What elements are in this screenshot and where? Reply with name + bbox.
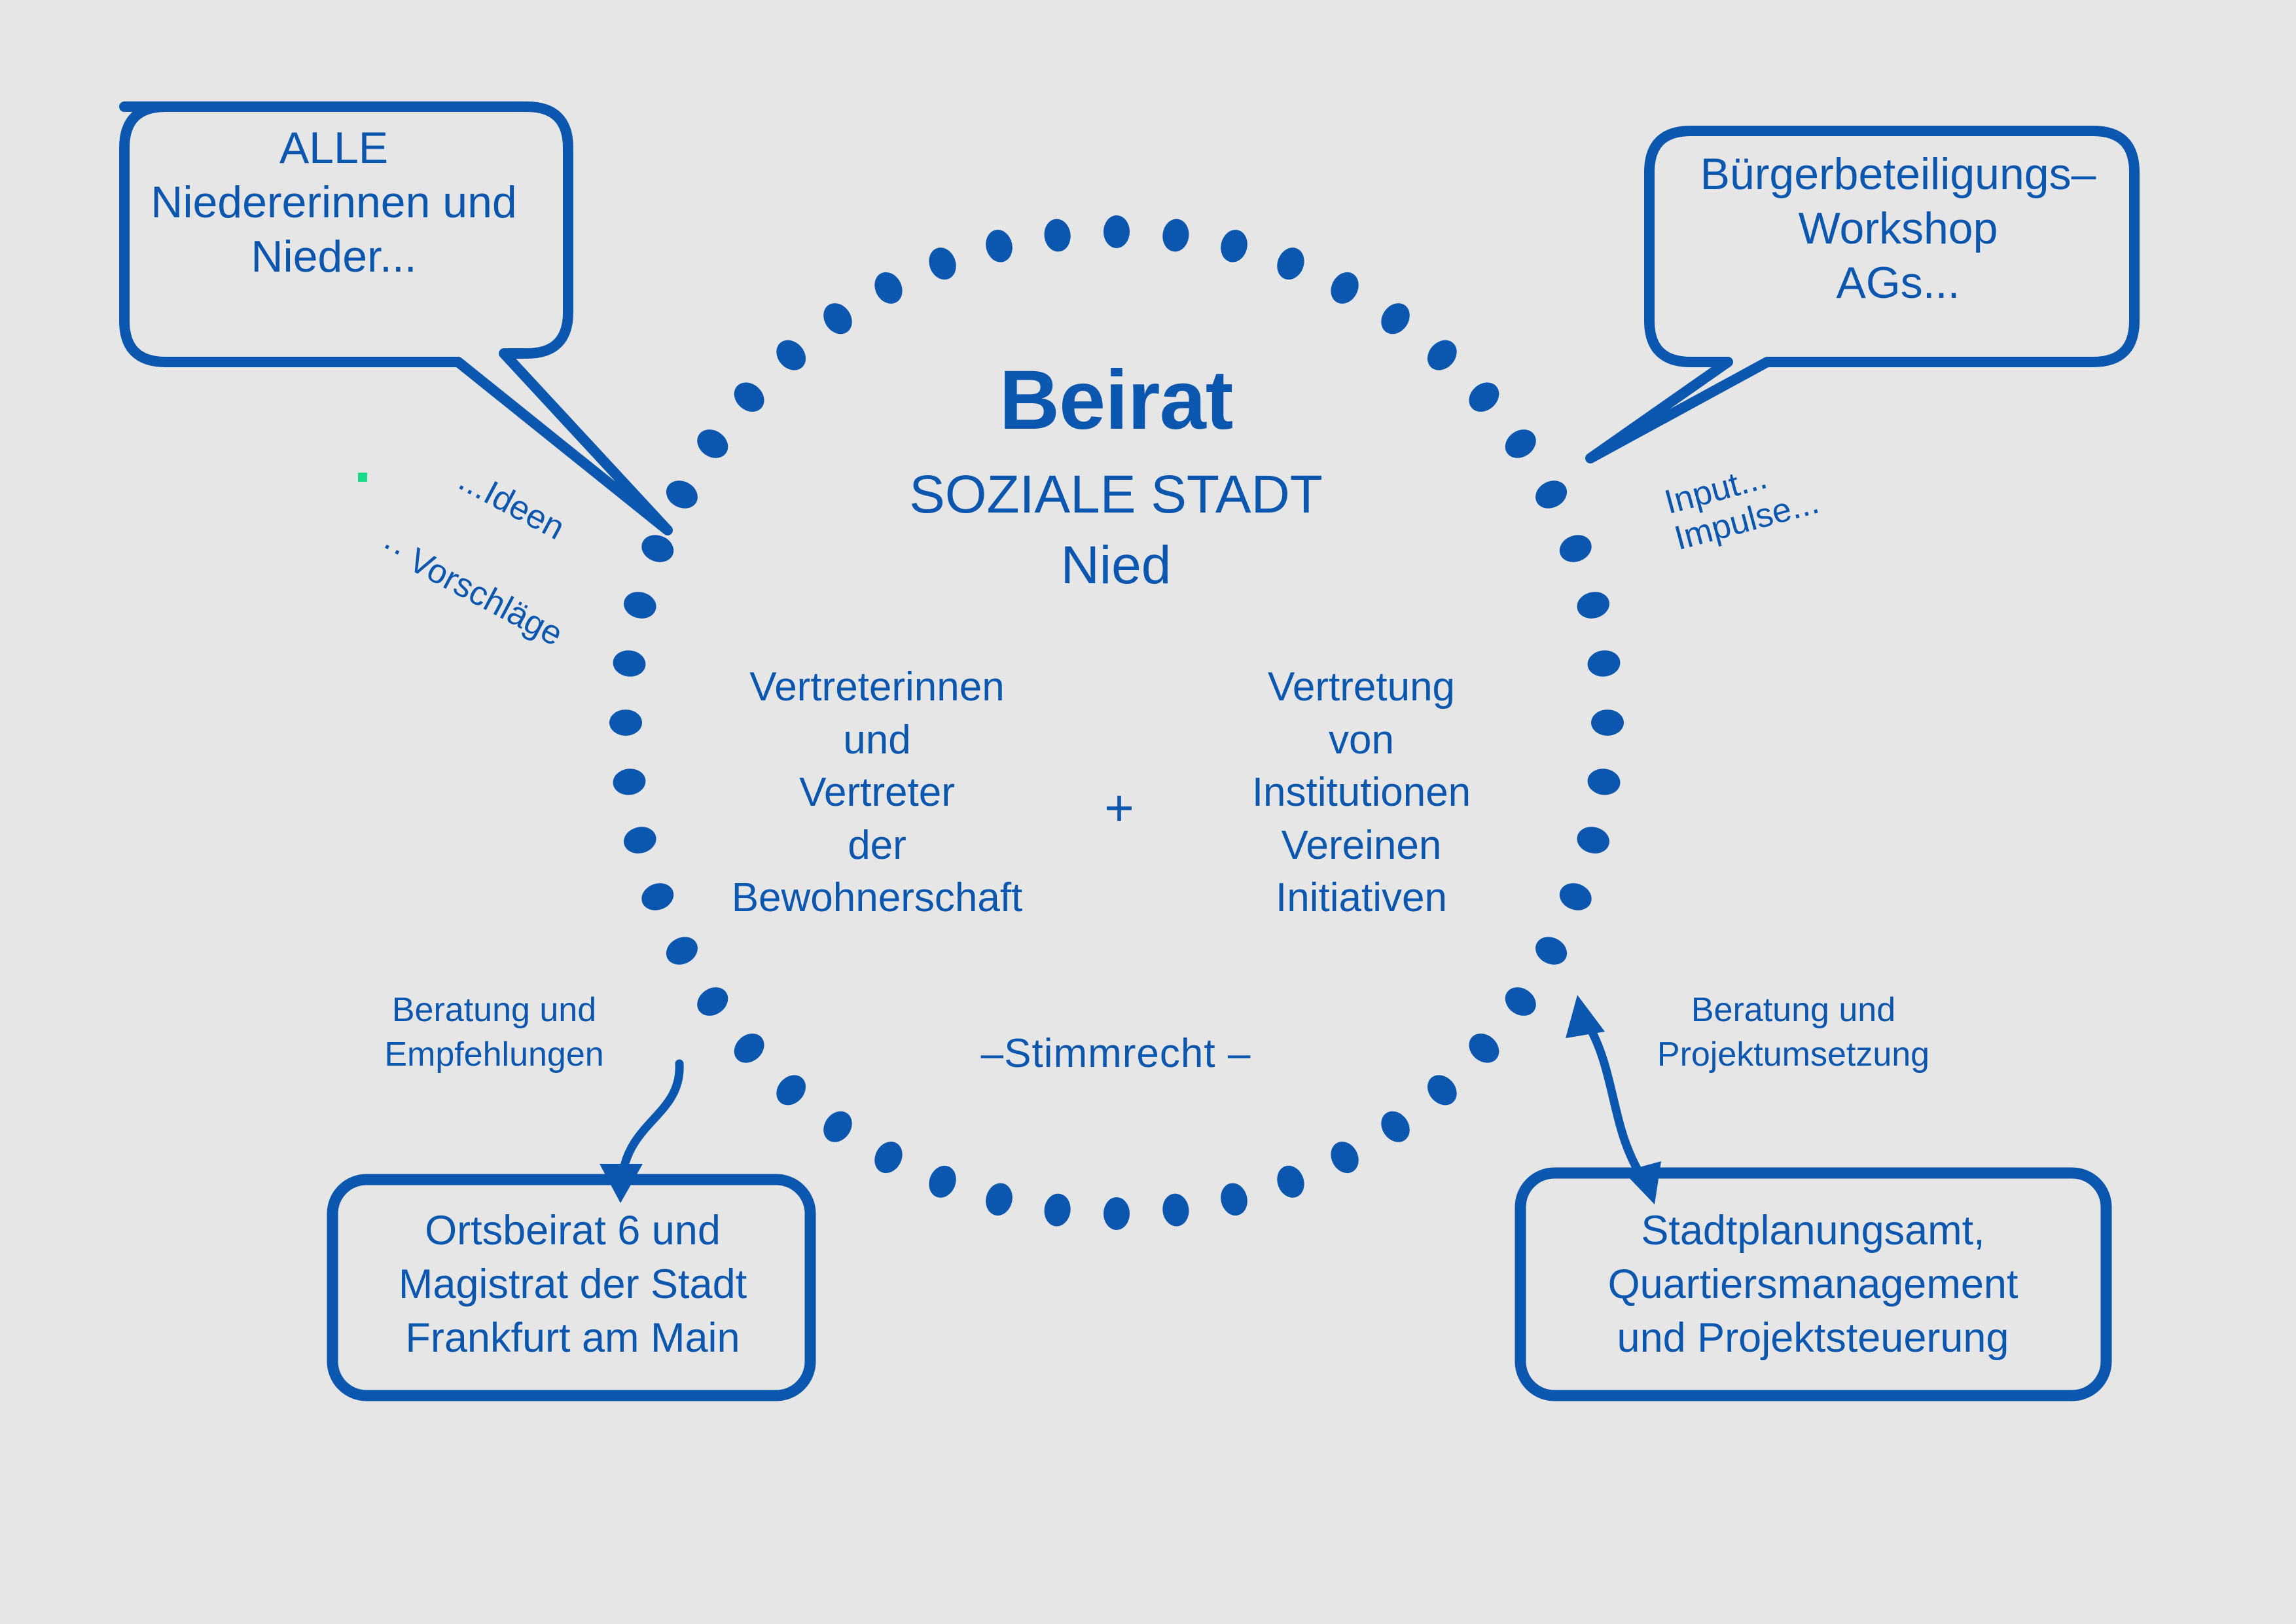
ring-dot (1586, 649, 1621, 679)
bubble-left-line1: ALLE (279, 123, 388, 173)
ring-dot (621, 588, 659, 622)
plus-operator: + (1083, 779, 1155, 837)
ring-dot (1591, 710, 1624, 736)
diagram-canvas: ALLE Niedererinnen und Nieder... Bürgerb… (0, 0, 2296, 1624)
ring-dot (692, 424, 734, 463)
ring-dot (1272, 1162, 1308, 1202)
ring-dot (637, 530, 677, 566)
ring-dot (982, 1180, 1016, 1218)
ring-dot (661, 931, 702, 970)
bubble-right-label: Bürgerbeteiligungs– Workshop AGs... (1656, 147, 2140, 310)
ring-dot (1531, 475, 1572, 514)
center-footer-stimmrecht: –Stimmrecht – (887, 1031, 1345, 1077)
ring-dot (1531, 931, 1572, 970)
ring-dot (817, 298, 857, 340)
box-bottom-right-label: Stadtplanungsamt, Quartiersmanagement un… (1518, 1204, 2108, 1365)
ring-dot (770, 1069, 812, 1111)
center-column-left: Vertreterinnen und Vertreter der Bewohne… (661, 661, 1093, 925)
ring-dot (924, 244, 960, 283)
bubble-right-line1: Bürgerbeteiligungs– (1700, 149, 2096, 199)
ring-dot (661, 475, 702, 514)
ring-dot (728, 1028, 770, 1069)
ring-dot (1272, 244, 1308, 283)
ring-dot (1586, 767, 1621, 797)
ring-dot (982, 227, 1016, 265)
ring-dot (609, 710, 642, 736)
ring-dot (924, 1162, 960, 1202)
bubble-right-line3: AGs... (1837, 258, 1960, 308)
green-accent-dot (358, 473, 367, 482)
ring-dot (1217, 1180, 1251, 1218)
bubble-left-line2: Niedererinnen und (151, 177, 517, 227)
ring-dot (817, 1106, 857, 1147)
ring-dot (869, 1137, 908, 1178)
ring-dot (1043, 217, 1073, 253)
box-bottom-left-label: Ortsbeirat 6 und Magistrat der Stadt Fra… (337, 1204, 808, 1365)
bubble-left-label: ALLE Niedererinnen und Nieder... (92, 121, 576, 284)
ring-dot (1574, 823, 1612, 857)
ring-dot (1103, 1197, 1130, 1230)
ring-dot (869, 267, 908, 308)
ring-dot (1499, 981, 1541, 1021)
ring-dot (611, 767, 647, 797)
arrow-label-left: Beratung und Empfehlungen (357, 988, 632, 1077)
ring-dot (692, 981, 734, 1021)
center-subtitle-1: SOZIALE STADT (756, 465, 1476, 526)
center-subtitle-2: Nied (756, 535, 1476, 596)
center-column-right: Vertretung von Institutionen Vereinen In… (1158, 661, 1564, 925)
bubble-left-line3: Nieder... (251, 232, 416, 281)
ring-dot (1161, 1192, 1191, 1227)
ring-dot (1463, 1028, 1505, 1069)
ring-dot (1375, 1106, 1415, 1147)
ring-dot (1325, 1137, 1364, 1178)
ring-dot (1103, 215, 1130, 248)
ring-dot (1499, 424, 1541, 463)
center-title: Beirat (756, 353, 1476, 448)
ring-dot (1325, 267, 1364, 308)
ring-dot (1161, 217, 1191, 253)
ring-dot (1422, 1069, 1463, 1111)
ring-dot (1375, 298, 1415, 340)
ring-dot (1217, 227, 1251, 265)
arrow-label-right: Beratung und Projektumsetzung (1630, 988, 1957, 1077)
bubble-right-line2: Workshop (1799, 204, 1998, 253)
ring-dot (611, 649, 647, 679)
ring-dot (1556, 530, 1596, 566)
ring-dot (621, 823, 659, 857)
ring-dot (1043, 1192, 1073, 1227)
ring-dot (1574, 588, 1612, 622)
